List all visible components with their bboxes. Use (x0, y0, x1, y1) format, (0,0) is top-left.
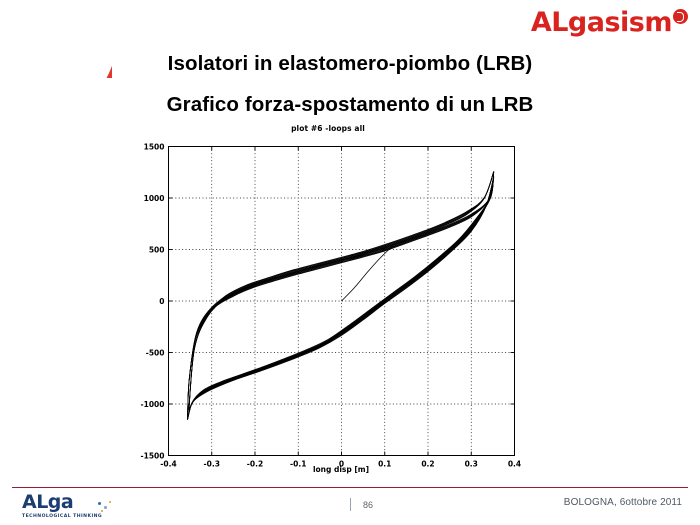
chart-curves (188, 171, 494, 419)
chart-y-tick-label: -1500 (141, 451, 165, 460)
footer: ALga TECHNOLOGICAL THINKING 86 BOLOGNA, … (0, 488, 700, 525)
chart-curve (188, 177, 494, 420)
chart-curve (188, 177, 494, 420)
chart-y-tick-label: -1000 (141, 400, 165, 409)
chart-x-tick-label: 0.1 (378, 460, 391, 469)
footer-date-location: BOLOGNA, 6ottobre 2011 (564, 497, 682, 508)
brand-logo: ALgasism (531, 8, 688, 38)
chart-curve (188, 177, 494, 420)
brand-logo-text-second: gasism (568, 7, 672, 38)
footer-page-number: 86 (350, 498, 373, 511)
chart-x-tick-label: -0.2 (247, 460, 263, 469)
chart-x-tick-label: 0.4 (508, 460, 521, 469)
chart-curve (189, 171, 494, 409)
chart-curve (188, 177, 494, 420)
registered-badge-icon (673, 9, 688, 24)
footer-logo: ALga TECHNOLOGICAL THINKING (22, 492, 132, 519)
chart-y-tick-label: 500 (149, 245, 165, 254)
chart-curve (188, 177, 494, 420)
title-block: Isolatori in elastomero-piombo (LRB) Gra… (0, 52, 700, 117)
page-subtitle: Grafico forza-spostamento di un LRB (0, 93, 700, 117)
chart-x-tick-label: -0.1 (290, 460, 306, 469)
chart-curve (188, 177, 494, 420)
chart-y-tick-label: 1000 (144, 194, 165, 203)
chart-curve (188, 177, 494, 420)
chart-y-tick-label: 1500 (144, 142, 165, 151)
chart-curve (188, 177, 494, 420)
page-title: Isolatori in elastomero-piombo (LRB) (0, 52, 700, 76)
chart-x-axis-title: long disp [m] (313, 465, 369, 474)
footer-page-divider (350, 498, 351, 511)
chart-curve (188, 177, 494, 420)
force-displacement-chart: -0.4-0.3-0.2-0.100.10.20.30.4 1500100050… (132, 122, 524, 478)
footer-logo-dots-icon (96, 501, 118, 515)
chart-y-tick-label: 0 (159, 297, 164, 306)
chart-y-tick-label: -500 (146, 348, 165, 357)
footer-page-number-value: 86 (363, 500, 373, 510)
chart-x-tick-label: -0.3 (204, 460, 220, 469)
brand-logo-wordmark: ALgasism (531, 8, 672, 38)
chart-x-tick-label: 0.3 (465, 460, 478, 469)
chart-y-tick-labels: 150010005000-500-1000-1500 (141, 142, 165, 460)
chart-x-tick-label: -0.4 (160, 460, 176, 469)
chart-x-tick-label: 0.2 (421, 460, 434, 469)
brand-logo-text-first: AL (531, 7, 568, 38)
chart-curve (188, 177, 494, 420)
chart-figure: plot #6 -loops all -0.4-0.3-0.2-0.100.10… (132, 122, 524, 478)
